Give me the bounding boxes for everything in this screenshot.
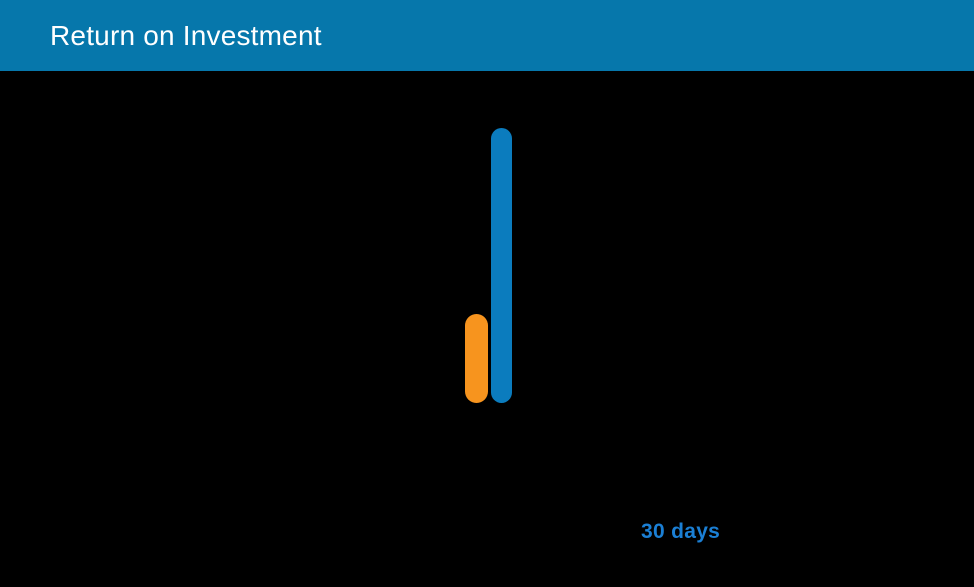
header-bar: Return on Investment <box>0 0 974 71</box>
bar-return <box>491 128 512 403</box>
bar-investment <box>465 314 488 403</box>
slide-canvas: Return on Investment 30 days <box>0 0 974 587</box>
chart-plot-area: 30 days <box>0 71 974 587</box>
timeframe-label: 30 days <box>641 520 720 544</box>
page-title: Return on Investment <box>50 0 322 71</box>
